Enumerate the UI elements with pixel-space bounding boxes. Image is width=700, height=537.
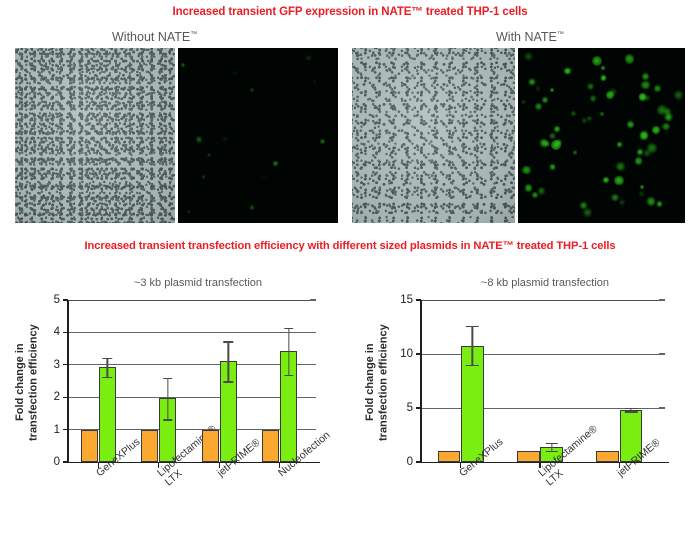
gfp-image-with-nate	[518, 48, 685, 223]
gfp-cell-dots	[518, 48, 685, 223]
y-axis-tick-label: 4	[34, 326, 60, 338]
error-bar	[461, 326, 484, 365]
figure-page: Increased transient GFP expression in NA…	[0, 0, 700, 537]
error-bar-cap	[625, 411, 637, 412]
error-bar-cap	[163, 419, 172, 420]
gfp-positive-cell	[625, 54, 635, 64]
figure-title-middle: Increased transient transfection efficie…	[0, 240, 700, 252]
bar-without-nate	[438, 451, 461, 462]
plot-area: 051015GeneXPlusLipofectamine® LTXjetPRIM…	[421, 300, 659, 462]
error-bar-stem	[167, 378, 168, 419]
error-bar	[620, 408, 643, 411]
gfp-positive-cell	[652, 126, 660, 134]
gfp-positive-cell	[616, 162, 625, 171]
error-bar	[220, 341, 237, 381]
error-bar-stem	[228, 341, 229, 381]
gfp-positive-cell	[262, 175, 266, 179]
gfp-positive-cell	[601, 66, 605, 70]
y-axis-tick-label: 2	[34, 391, 60, 403]
gfp-positive-cell	[320, 139, 325, 144]
trademark-symbol: ™	[190, 31, 197, 38]
gfp-positive-cell	[532, 192, 538, 198]
gfp-positive-cell	[665, 113, 673, 121]
bar-without-nate	[517, 451, 540, 462]
gfp-positive-cell	[202, 175, 206, 179]
chart-title: ~8 kb plasmid transfection	[425, 277, 665, 289]
y-axis-tick-label: 1	[34, 424, 60, 436]
x-axis-baseline-extension	[659, 462, 669, 464]
gfp-positive-cell	[601, 75, 607, 81]
panel-caption-with-nate: With NATE™	[496, 30, 564, 44]
gridline-right-stub	[310, 332, 316, 333]
gfp-positive-cell	[640, 131, 648, 139]
error-bar-stem	[107, 358, 108, 377]
error-bar-cap	[223, 381, 232, 382]
gfp-positive-cell	[583, 208, 592, 217]
y-axis-tick-label: 15	[387, 294, 413, 306]
gfp-positive-cell	[573, 150, 578, 155]
gfp-positive-cell	[654, 85, 661, 92]
gfp-positive-cell	[581, 117, 588, 124]
gfp-positive-cell	[549, 133, 555, 139]
gfp-positive-cell	[603, 177, 609, 183]
gridline	[421, 354, 659, 355]
gfp-positive-cell	[587, 83, 594, 90]
gfp-positive-cell	[600, 112, 604, 116]
y-axis-tick-label: 0	[34, 456, 60, 468]
gfp-positive-cell	[662, 123, 670, 131]
error-bar-cap	[284, 328, 293, 329]
gfp-positive-cell	[641, 81, 650, 90]
error-bar-cap	[466, 326, 478, 327]
gfp-positive-cell	[273, 161, 278, 166]
gfp-positive-cell	[643, 149, 651, 157]
bar-without-nate	[202, 430, 219, 462]
panel-caption-text: Without NATE	[112, 30, 190, 44]
error-bar	[280, 328, 297, 375]
gfp-image-without-nate	[178, 48, 338, 223]
gridline	[68, 332, 310, 333]
gridline-right-stub	[659, 353, 665, 354]
gfp-positive-cell	[642, 73, 649, 80]
error-bar-stem	[472, 326, 473, 365]
error-bar-cap	[466, 365, 478, 366]
bar-without-nate	[81, 430, 98, 462]
gridline-right-stub	[659, 299, 665, 300]
gfp-positive-cell	[550, 88, 554, 92]
gfp-positive-cell	[592, 56, 602, 66]
gfp-positive-cell	[305, 55, 311, 61]
error-bar	[99, 358, 116, 377]
gfp-positive-cell	[619, 199, 626, 206]
y-axis-tick-label: 10	[387, 348, 413, 360]
gfp-positive-cell	[647, 197, 655, 205]
gfp-positive-cell	[590, 95, 597, 102]
gfp-positive-cell	[521, 100, 526, 105]
gridline-right-stub	[310, 299, 316, 300]
gfp-positive-cell	[555, 139, 562, 146]
gfp-positive-cell	[188, 210, 190, 212]
y-axis-tick-label: 5	[387, 402, 413, 414]
gfp-positive-cell	[550, 164, 556, 170]
gridline-right-stub	[659, 407, 665, 408]
brightfield-image-without-nate	[15, 48, 175, 223]
panel-caption-text: With NATE	[496, 30, 557, 44]
gfp-positive-cell	[535, 103, 542, 110]
y-axis-line	[420, 300, 422, 463]
gfp-positive-cell	[233, 71, 237, 75]
error-bar-cap	[163, 378, 172, 379]
gfp-positive-cell	[540, 139, 548, 147]
gfp-positive-cell	[611, 194, 619, 202]
gridline-right-stub	[310, 429, 316, 430]
gfp-positive-cell	[617, 142, 622, 147]
y-axis-tick-label: 3	[34, 359, 60, 371]
bar-without-nate	[262, 430, 279, 462]
gridline-right-stub	[310, 364, 316, 365]
gfp-positive-cell	[639, 192, 643, 196]
y-axis-tick-label: 0	[387, 456, 413, 468]
gfp-positive-cell	[542, 97, 548, 103]
gfp-positive-cell	[627, 121, 634, 128]
gfp-positive-cell	[250, 88, 254, 92]
gfp-positive-cell	[657, 201, 663, 207]
gfp-positive-cell	[538, 187, 546, 195]
bar-without-nate	[141, 430, 158, 462]
vignette-overlay	[15, 48, 175, 223]
error-bar-cap	[546, 443, 558, 444]
bar-with-nate	[99, 367, 116, 462]
gfp-positive-cell	[564, 68, 571, 75]
plot-area: 012345GeneXPlusLipofectamine® LTXjetPRIM…	[68, 300, 310, 462]
gfp-positive-cell	[635, 157, 643, 165]
gfp-positive-cell	[571, 111, 576, 116]
gfp-positive-cell	[606, 91, 614, 99]
chart-y-axis-label: Fold change in transfection efficiency	[364, 300, 394, 465]
gfp-positive-cell	[207, 153, 211, 157]
gfp-positive-cell	[250, 205, 254, 209]
error-bar-cap	[625, 408, 637, 409]
error-bar-cap	[223, 341, 232, 342]
gfp-positive-cell	[223, 137, 227, 141]
gfp-positive-cell	[554, 126, 560, 132]
y-axis-tick-label: 5	[34, 294, 60, 306]
vignette-overlay	[352, 48, 515, 223]
gfp-positive-cell	[614, 176, 623, 185]
gridline	[68, 300, 310, 302]
error-bar-stem	[288, 328, 289, 375]
trademark-symbol: ™	[557, 31, 564, 38]
x-axis-baseline-extension	[310, 462, 320, 464]
error-bar-cap	[284, 375, 293, 376]
panel-caption-without-nate: Without NATE™	[112, 30, 197, 44]
gfp-cell-dots	[178, 48, 338, 223]
gfp-positive-cell	[674, 90, 684, 100]
chart-title: ~3 kb plasmid transfection	[78, 277, 318, 289]
gridline	[421, 300, 659, 302]
error-bar-cap	[102, 377, 111, 378]
y-axis-line	[67, 300, 69, 463]
gfp-positive-cell	[522, 166, 530, 174]
gfp-positive-cell	[640, 185, 644, 189]
gfp-positive-cell	[313, 80, 316, 83]
gfp-positive-cell	[536, 86, 540, 90]
error-bar-cap	[102, 358, 111, 359]
error-bar	[159, 378, 176, 419]
figure-title-top: Increased transient GFP expression in NA…	[0, 6, 700, 18]
gfp-positive-cell	[196, 136, 202, 142]
bar-without-nate	[596, 451, 619, 462]
gridline-right-stub	[310, 397, 316, 398]
gfp-positive-cell	[524, 52, 533, 61]
brightfield-image-with-nate	[352, 48, 515, 223]
gfp-positive-cell	[525, 184, 533, 192]
gfp-positive-cell	[181, 63, 185, 67]
gfp-positive-cell	[529, 79, 536, 86]
chart-y-axis-label: Fold change in transfection efficiency	[14, 300, 44, 465]
gfp-positive-cell	[587, 116, 592, 121]
